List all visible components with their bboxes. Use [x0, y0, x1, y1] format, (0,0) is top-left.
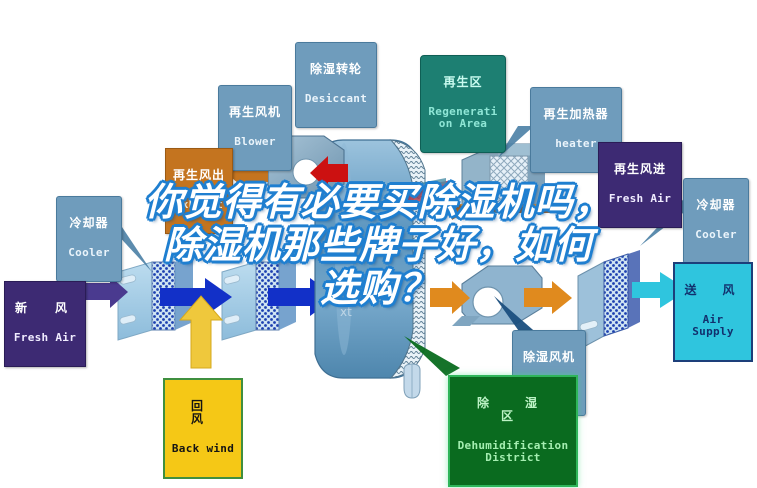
label-regeneration-blower-en: Blower [224, 136, 286, 148]
label-back-wind-inlet-cn: 回 风 [170, 400, 236, 426]
label-regeneration-fresh-air-in: 再生风进 Fresh Air [598, 142, 682, 228]
label-cooler-left: 冷却器 Cooler [56, 196, 122, 282]
callout-label-layer: 除湿转轮 Desiccant 再生风机 Blower 再生区 Regenerat… [0, 0, 757, 488]
label-desiccant-rotor-cn: 除湿转轮 [301, 63, 371, 76]
label-regeneration-fresh-air-in-cn: 再生风进 [604, 163, 676, 176]
label-cooler-right: 冷却器 Cooler [683, 178, 749, 264]
label-fresh-air-inlet-cn: 新 风 [10, 302, 80, 315]
label-desiccant-rotor: 除湿转轮 Desiccant [295, 42, 377, 128]
label-fresh-air-inlet-en: Fresh Air [10, 332, 80, 344]
label-regeneration-exhaust-cn: 再生风出 [171, 169, 227, 182]
label-regeneration-fresh-air-in-en: Fresh Air [604, 193, 676, 205]
label-air-supply-outlet-cn: 送 风 [680, 284, 746, 297]
label-cooler-right-en: Cooler [689, 229, 743, 241]
label-fresh-air-inlet: 新 风 Fresh Air [4, 281, 86, 367]
label-cooler-right-cn: 冷却器 [689, 199, 743, 212]
label-dehumidification-district-cn: 除 湿 区 [455, 397, 571, 423]
label-back-wind-inlet: 回 风 Back wind [163, 378, 243, 479]
label-regeneration-area: 再生区 Regenerati on Area [420, 55, 506, 153]
label-regeneration-exhaust-en: Exhaust [171, 199, 227, 211]
label-cooler-left-cn: 冷却器 [62, 217, 116, 230]
label-regeneration-area-en: Regenerati on Area [426, 106, 500, 130]
label-regeneration-exhaust: 再生风出 Exhaust [165, 148, 233, 234]
label-regeneration-area-cn: 再生区 [426, 76, 500, 89]
label-regeneration-blower-cn: 再生风机 [224, 106, 286, 119]
diagram-canvas: xt [0, 0, 757, 488]
label-back-wind-inlet-en: Back wind [170, 443, 236, 455]
label-regeneration-heater-cn: 再生加热器 [536, 108, 616, 121]
label-dehumidification-blower-cn: 除湿风机 [518, 351, 580, 364]
label-air-supply-outlet-en: Air Supply [680, 314, 746, 338]
label-dehumidification-district: 除 湿 区 Dehumidification District [448, 375, 578, 487]
label-air-supply-outlet: 送 风 Air Supply [673, 262, 753, 362]
label-cooler-left-en: Cooler [62, 247, 116, 259]
label-dehumidification-district-en: Dehumidification District [455, 440, 571, 464]
label-desiccant-rotor-en: Desiccant [301, 93, 371, 105]
